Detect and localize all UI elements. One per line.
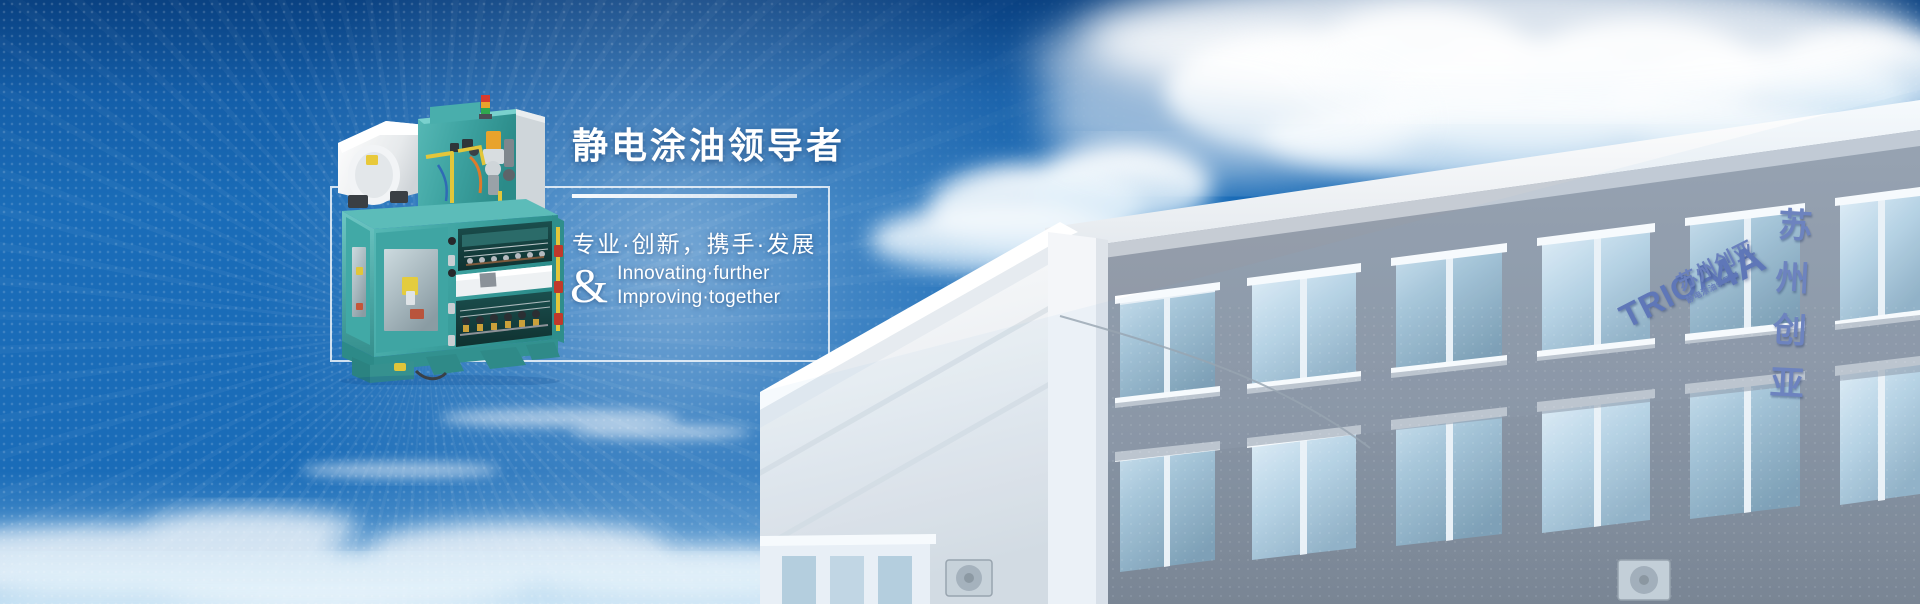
ampersand-glyph: & xyxy=(570,265,608,307)
vertical-char-1: 州 xyxy=(1768,252,1817,307)
tagline-lines: Innovating·further Improving·together xyxy=(617,262,780,310)
subtitle-cn: 专业·创新，携手·发展 xyxy=(572,225,816,259)
tagline-line-2: Improving·together xyxy=(617,286,780,310)
tagline-line-1: Innovating·further xyxy=(617,262,780,286)
building-svg xyxy=(760,0,1920,604)
hero-banner: TRIOA 苏州创亚 静电涂油领导者 4A 苏 州 创 亚 xyxy=(0,0,1920,604)
vertical-char-2: 创 xyxy=(1765,304,1814,359)
page-title: 静电涂油领导者 xyxy=(572,128,845,164)
machine-photo xyxy=(330,95,610,385)
vertical-char-0: 苏 xyxy=(1771,199,1820,254)
machine-svg xyxy=(330,95,610,385)
factory-building-photo: TRIOA 苏州创亚 静电涂油领导者 4A 苏 州 创 亚 xyxy=(760,0,1920,604)
vertical-char-3: 亚 xyxy=(1763,357,1812,412)
tagline-block: & Innovating·further Improving·together xyxy=(570,262,780,310)
